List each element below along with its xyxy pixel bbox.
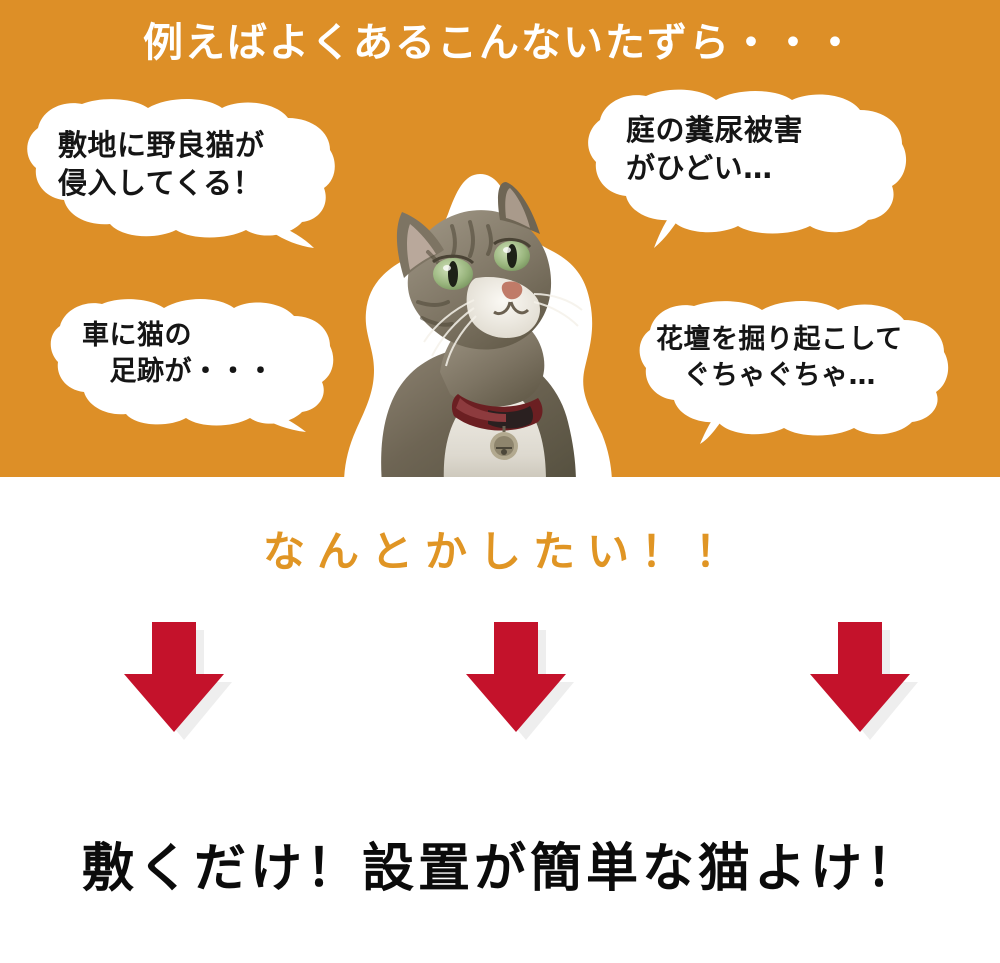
wish-callout: なんとかしたい！！	[0, 518, 1000, 579]
final-headline: 敷くだけ！設置が簡単な猫よけ！	[0, 826, 1000, 901]
down-arrow-icon	[796, 618, 924, 740]
cat-figure	[330, 172, 620, 477]
speech-bubble-flowerbed-dug-up: 花壇を掘り起こして ぐちゃぐちゃ…	[630, 298, 968, 444]
speech-bubble-car-paw-prints: 車に猫の 足跡が・・・	[44, 296, 334, 432]
bubble-text: 花壇を掘り起こして ぐちゃぐちゃ…	[656, 322, 903, 393]
speech-bubble-stray-cat-intrusion: 敷地に野良猫が 侵入してくる！	[22, 96, 340, 248]
down-arrow-icon	[452, 618, 580, 740]
bubble-text: 敷地に野良猫が 侵入してくる！	[58, 126, 265, 203]
down-arrow-icon	[110, 618, 238, 740]
page-title: 例えばよくあるこんないたずら・・・	[0, 18, 1000, 68]
bubble-text: 車に猫の 足跡が・・・	[82, 318, 275, 389]
hero-panel: 例えばよくあるこんないたずら・・・	[0, 0, 1000, 477]
speech-bubble-garden-waste-damage: 庭の糞尿被害 がひどい…	[578, 86, 908, 248]
bubble-text: 庭の糞尿被害 がひどい…	[626, 111, 803, 188]
arrow-row	[0, 618, 1000, 748]
cat-photo	[348, 182, 604, 477]
promo-banner: 例えばよくあるこんないたずら・・・	[0, 0, 1000, 963]
